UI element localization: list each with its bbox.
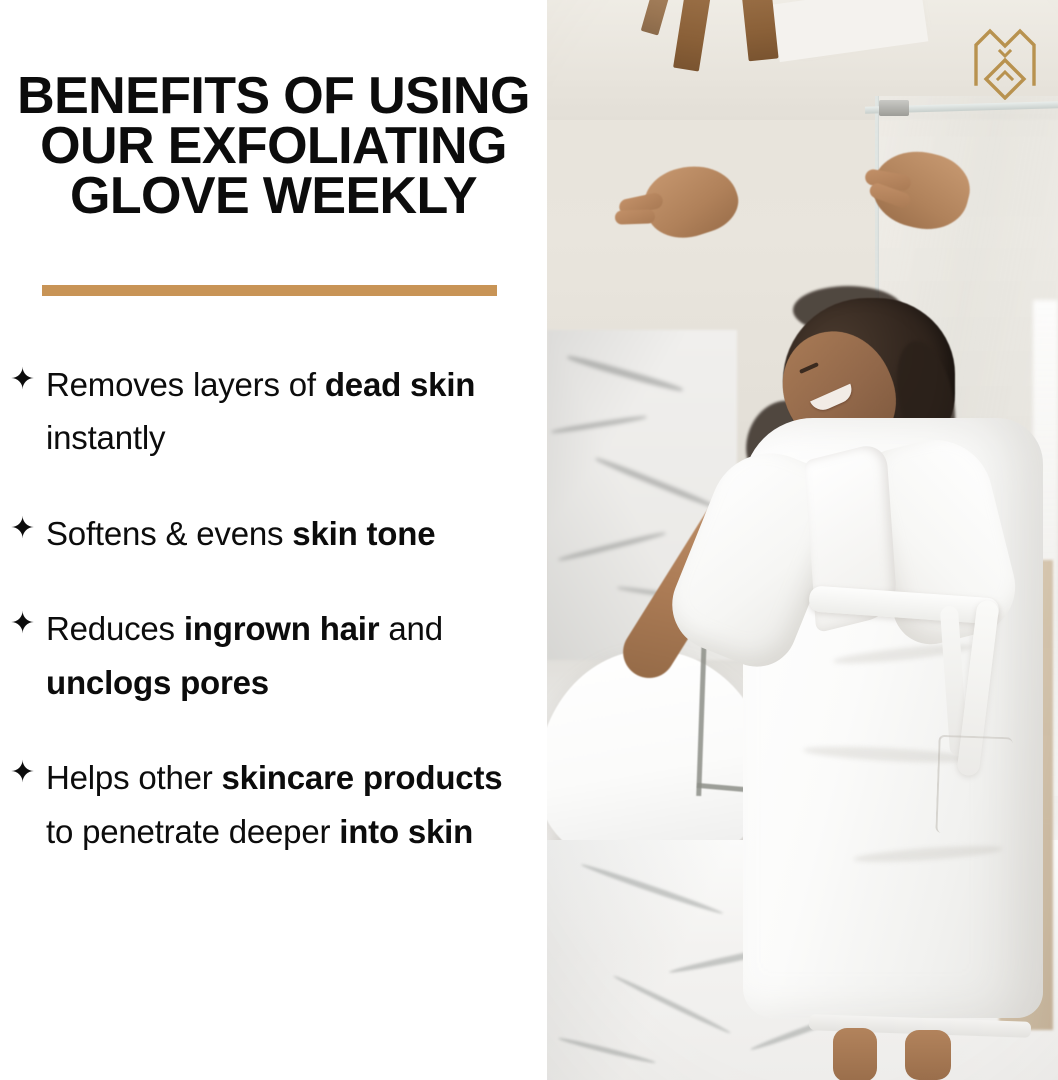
- benefit-highlight: dead skin: [325, 366, 475, 403]
- benefit-list-item: ✦Helps other skincare products to penetr…: [0, 751, 547, 858]
- benefit-highlight: skincare products: [222, 759, 503, 796]
- benefits-text-panel: BENEFITS OF USING OUR EXFOLIATING GLOVE …: [0, 0, 547, 1080]
- page-title: BENEFITS OF USING OUR EXFOLIATING GLOVE …: [4, 72, 543, 222]
- sparkle-bullet-icon: ✦: [10, 358, 46, 399]
- benefit-text: Removes layers of dead skin instantly: [46, 358, 526, 465]
- gold-divider-rule: [42, 285, 497, 296]
- sparkle-bullet-icon: ✦: [10, 602, 46, 643]
- finger: [615, 209, 655, 224]
- benefit-highlight: skin tone: [292, 515, 435, 552]
- sparkle-bullet-icon: ✦: [10, 507, 46, 548]
- benefit-list-item: ✦Removes layers of dead skin instantly: [0, 358, 547, 465]
- headline-line-2: OUR EXFOLIATING: [4, 122, 543, 172]
- benefit-text: Reduces ingrown hair and unclogs pores: [46, 602, 526, 709]
- headline-line-3: GLOVE WEEKLY: [4, 172, 543, 222]
- benefits-list: ✦Removes layers of dead skin instantly✦S…: [0, 358, 547, 858]
- lifestyle-photo: [547, 0, 1058, 1080]
- leg: [905, 1030, 951, 1080]
- benefit-highlight: into skin: [339, 813, 473, 850]
- benefit-highlight: unclogs pores: [46, 664, 269, 701]
- infographic-canvas: BENEFITS OF USING OUR EXFOLIATING GLOVE …: [0, 0, 1058, 1080]
- benefit-list-item: ✦Reduces ingrown hair and unclogs pores: [0, 602, 547, 709]
- headline-line-1: BENEFITS OF USING: [4, 72, 543, 122]
- woman-figure: [547, 0, 1058, 1080]
- sparkle-bullet-icon: ✦: [10, 751, 46, 792]
- benefit-text: Helps other skincare products to penetra…: [46, 751, 526, 858]
- benefit-highlight: ingrown hair: [184, 610, 380, 647]
- benefit-list-item: ✦Softens & evens skin tone: [0, 507, 547, 560]
- brand-monogram-logo: [970, 24, 1040, 100]
- benefit-text: Softens & evens skin tone: [46, 507, 526, 560]
- leg: [833, 1028, 877, 1080]
- robe-pocket: [935, 735, 1012, 836]
